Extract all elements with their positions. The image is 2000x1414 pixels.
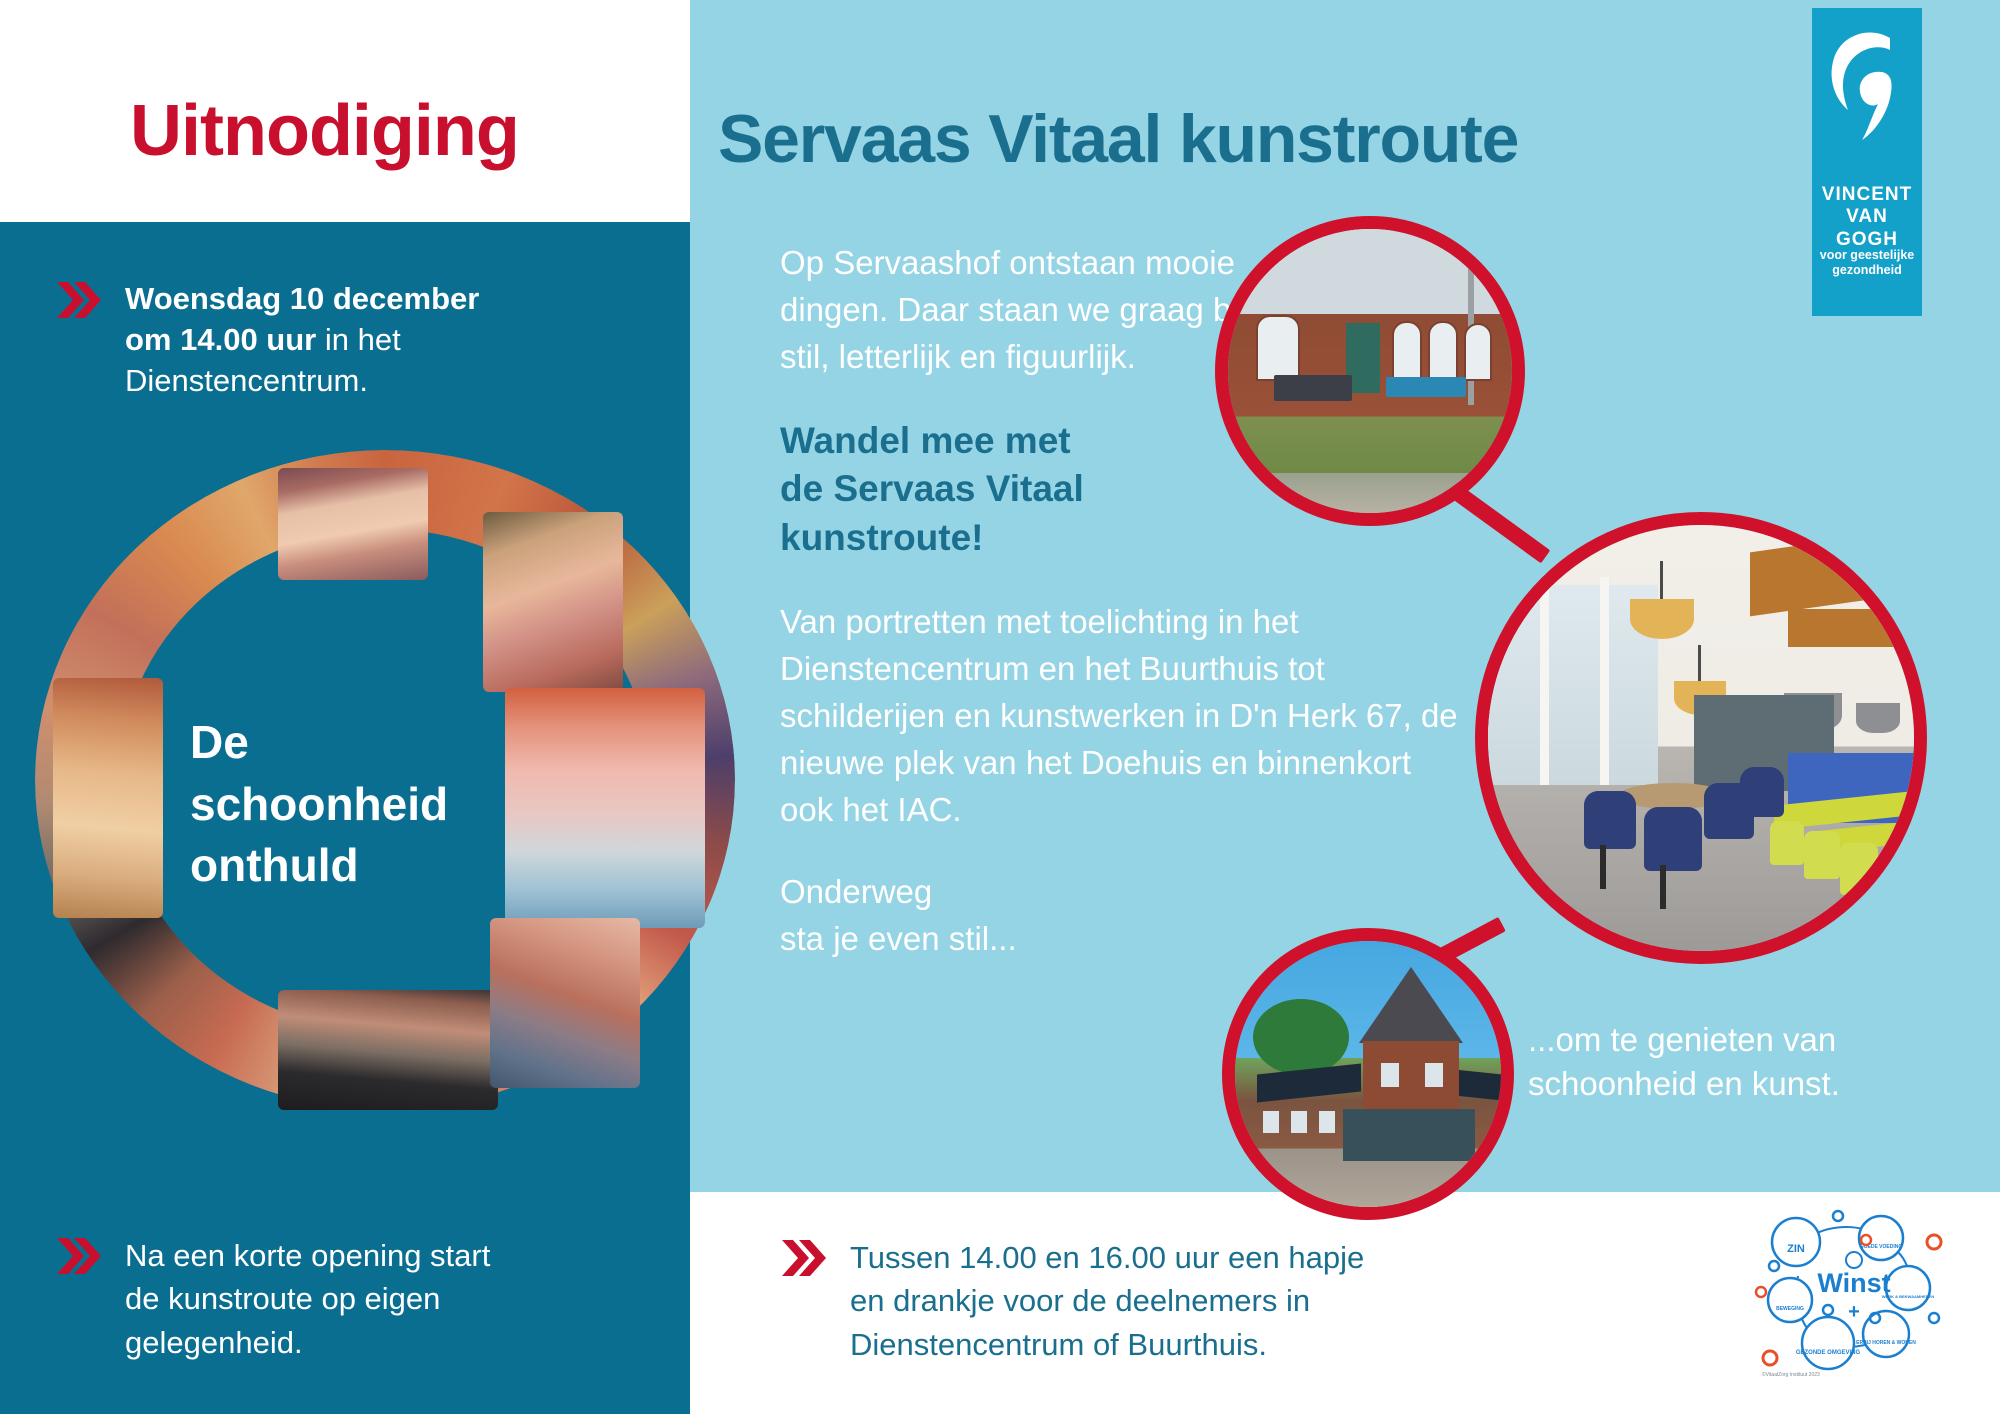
blue-chair-shape <box>1584 791 1636 849</box>
solar-panels-shape <box>1459 1070 1514 1102</box>
refreshments-line2: en drankje voor de deelnemers in <box>850 1283 1310 1318</box>
refreshments-line3: Dienstencentrum of Buurthuis. <box>850 1327 1267 1362</box>
dienstencentrum-building-photo <box>1215 216 1525 526</box>
enjoy-caption-line1: ...om te genieten van <box>1528 1021 1836 1058</box>
winst-wheel-icon: ZIN GOEDE VOEDING WERK & BEKWAAMHEDEN ER… <box>1748 1200 1958 1390</box>
walk-invite-heading-line1: Wandel mee met <box>780 420 1071 461</box>
window-shape <box>1425 1063 1443 1087</box>
winst-node-omgeving: GEZONDE OMGEVING <box>1796 1350 1861 1356</box>
winst-node-beweging: BEWEGING <box>1776 1306 1804 1312</box>
window-shape <box>1464 323 1492 381</box>
yellow-chair-shape <box>1840 843 1878 895</box>
refreshments-line1: Tussen 14.00 en 16.00 uur een hapje <box>850 1240 1364 1275</box>
collage-face-top <box>278 468 428 580</box>
opening-info-line2: de kunstroute op eigen <box>125 1281 440 1316</box>
lamp-stem-shape <box>1660 561 1663 603</box>
gable-roof-shape <box>1359 967 1463 1043</box>
double-chevron-right-icon <box>780 1236 828 1366</box>
vvg-wordmark: VINCENT VAN GOGH <box>1812 184 1922 251</box>
opening-info-text: Na een korte opening start de kunstroute… <box>125 1234 490 1364</box>
collage-face-top-right <box>483 512 623 692</box>
right-text-column: Op Servaashof ontstaan mooie dingen. Daa… <box>780 240 1250 999</box>
buurthuis-exterior-photo <box>1222 928 1514 1220</box>
event-date-block: Woensdag 10 december om 14.00 uur in het… <box>55 278 615 402</box>
collage-heading-line1: De <box>190 716 249 768</box>
route-description-paragraph: Van portretten met toelichting in het Di… <box>780 599 1460 833</box>
opening-info-line1: Na een korte opening start <box>125 1238 490 1273</box>
winst-centre-label: Winst <box>1817 1268 1890 1298</box>
collage-face-bottom <box>278 990 498 1110</box>
winst-node-zin: ZIN <box>1787 1243 1805 1255</box>
window-shape <box>1263 1111 1279 1133</box>
refreshments-info-text: Tussen 14.00 en 16.00 uur een hapje en d… <box>850 1236 1364 1366</box>
event-date-rest: in het <box>316 322 400 357</box>
event-location: Dienstencentrum. <box>125 363 368 398</box>
solar-panels-shape <box>1257 1064 1361 1103</box>
window-shape <box>1428 321 1458 381</box>
glass-entrance-shape <box>1343 1109 1475 1161</box>
buurthuis-interior-photo <box>1475 512 1927 964</box>
collage-heading: De schoonheid onthuld <box>190 712 550 897</box>
blue-chair-shape <box>1740 767 1784 817</box>
collage-heading-line3: onthuld <box>190 839 359 891</box>
portrait-collage-circle: De schoonheid onthuld <box>35 450 735 1110</box>
vincent-van-gogh-logo: VINCENT VAN GOGH voor geestelijke gezond… <box>1812 8 1922 316</box>
window-shape <box>1381 1063 1399 1087</box>
pendant-lamp-icon <box>1630 599 1694 639</box>
page-title: Uitnodiging <box>130 95 519 167</box>
intro-paragraph: Op Servaashof ontstaan mooie dingen. Daa… <box>780 240 1250 381</box>
mullion-shape <box>1600 577 1609 785</box>
double-chevron-right-icon <box>55 1234 103 1364</box>
winst-positieve-gezondheid-logo: ZIN GOEDE VOEDING WERK & BEKWAAMHEDEN ER… <box>1748 1200 1958 1390</box>
event-time-bold: om 14.00 uur <box>125 322 316 357</box>
window-shape <box>1319 1111 1335 1133</box>
vvg-line2: VAN <box>1846 206 1888 227</box>
collage-heading-line2: schoonheid <box>190 778 448 830</box>
vvg-tagline-line2: gezondheid <box>1832 263 1901 277</box>
window-shape <box>1256 315 1300 381</box>
chair-leg-shape <box>1600 845 1606 889</box>
window-shape <box>1392 321 1422 381</box>
walk-invite-heading-line2: de Servaas Vitaal kunstroute! <box>780 468 1084 558</box>
window-shape <box>1291 1111 1307 1133</box>
pause-line2: sta je even stil... <box>780 920 1017 957</box>
collage-face-left <box>53 678 163 918</box>
wood-ceiling-shape <box>1750 526 1927 617</box>
blue-chair-shape <box>1644 807 1702 871</box>
collage-face-bottom-right <box>490 918 640 1088</box>
grey-lamp-icon <box>1856 703 1900 733</box>
vvg-line3: GOGH <box>1836 229 1898 250</box>
information-sign-shape <box>1386 377 1466 397</box>
enjoy-caption-line2: schoonheid en kunst. <box>1528 1065 1840 1102</box>
enjoy-caption: ...om te genieten van schoonheid en kuns… <box>1528 1018 1928 1105</box>
bicycles-shape <box>1274 375 1352 401</box>
double-chevron-right-icon <box>55 278 103 402</box>
opening-info-line3: gelegenheid. <box>125 1325 303 1360</box>
winst-centre-plus: + <box>1848 1301 1860 1323</box>
winst-credit: ©VitaalZorg Instituut 2023 <box>1762 1371 1820 1378</box>
pause-line1: Onderweg <box>780 873 932 910</box>
vvg-tagline: voor geestelijke gezondheid <box>1812 248 1922 279</box>
lamp-stem-shape <box>1698 645 1701 685</box>
winst-node-wonen: ERBIJ HOREN & WONEN <box>1856 1340 1916 1346</box>
pause-paragraph: Onderweg sta je even stil... <box>780 869 1250 963</box>
yellow-chair-shape <box>1770 821 1804 865</box>
walk-invite-heading: Wandel mee met de Servaas Vitaal kunstro… <box>780 417 1250 563</box>
opening-info-block: Na een korte opening start de kunstroute… <box>55 1234 635 1364</box>
event-date-bold-line1: Woensdag 10 december <box>125 281 479 316</box>
wood-beam-shape <box>1788 609 1927 647</box>
chair-leg-shape <box>1660 865 1666 909</box>
poster-canvas: Uitnodiging Servaas Vitaal kunstroute Wo… <box>0 0 2000 1414</box>
tree-shape <box>1253 999 1349 1075</box>
event-date-text: Woensdag 10 december om 14.00 uur in het… <box>125 278 479 402</box>
refreshments-info-block: Tussen 14.00 en 16.00 uur een hapje en d… <box>780 1236 1420 1366</box>
yellow-chair-shape <box>1804 831 1840 879</box>
vvg-line1: VINCENT <box>1822 184 1912 205</box>
mullion-shape <box>1540 585 1549 785</box>
main-title: Servaas Vitaal kunstroute <box>718 105 1518 173</box>
brushstroke-figure-icon <box>1812 20 1922 170</box>
vvg-tagline-line1: voor geestelijke <box>1820 248 1915 262</box>
